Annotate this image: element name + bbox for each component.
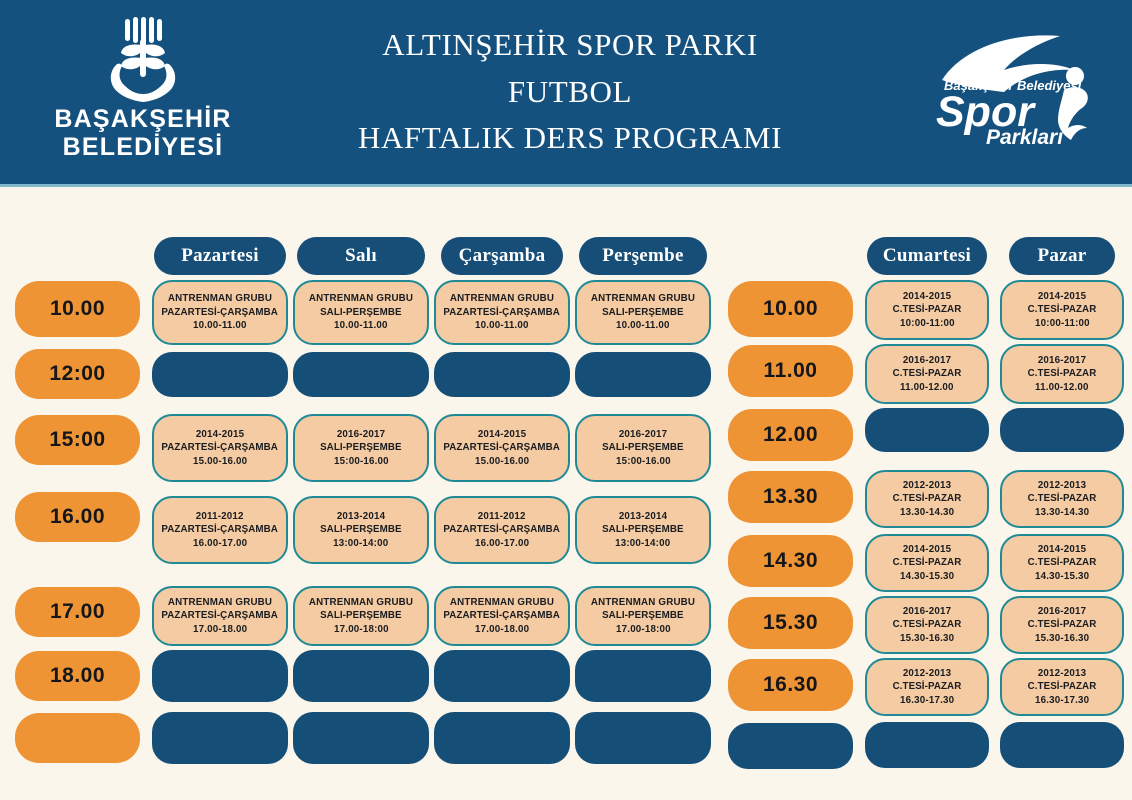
wheat-in-hands-icon	[104, 17, 182, 105]
cell-line-3: 15.30-16.30	[1035, 632, 1089, 646]
cell-line-3: 15:00-16.00	[334, 455, 389, 469]
cell-line-2: PAZARTESİ-ÇARŞAMBA	[444, 609, 561, 623]
cell-line-1: 2016-2017	[903, 354, 951, 368]
cell-line-3: 17.00-18.00	[193, 623, 247, 637]
cell-line-1: 2014-2015	[196, 428, 244, 442]
cell-line-2: PAZARTESİ-ÇARŞAMBA	[162, 523, 279, 537]
session-cell-pazar-r4[interactable]: 2012-2013C.TESİ-PAZAR13.30-14.30	[1000, 470, 1124, 528]
cell-line-3: 10:00-11:00	[1035, 317, 1090, 331]
cell-line-3: 10.00-11.00	[334, 319, 388, 333]
cell-line-2: SALI-PERŞEMBE	[602, 523, 684, 537]
session-cell-sali-r5[interactable]: ANTRENMAN GRUBUSALI-PERŞEMBE17.00-18:00	[293, 586, 429, 646]
title-line-2: FUTBOL	[290, 69, 850, 116]
day-header-cumartesi[interactable]: Cumartesi	[867, 237, 987, 275]
weekend-time-label-11-00[interactable]: 11.00	[728, 345, 853, 397]
cell-line-1: 2016-2017	[903, 605, 951, 619]
cell-line-3: 16.30-17.30	[900, 694, 954, 708]
cell-line-3: 16.00-17.00	[475, 537, 529, 551]
cell-line-2: C.TESİ-PAZAR	[1028, 618, 1097, 632]
cell-line-1: 2011-2012	[478, 510, 526, 524]
cell-line-3: 15:00-16.00	[616, 455, 671, 469]
spor-parklari-logo: Başakşehir Belediyesi Spor Parkları	[924, 28, 1114, 152]
weekend-time-empty[interactable]	[728, 723, 853, 769]
cell-line-1: 2014-2015	[903, 290, 951, 304]
cell-line-2: C.TESİ-PAZAR	[893, 618, 962, 632]
cell-line-3: 17.00-18.00	[475, 623, 529, 637]
cell-line-1: 2016-2017	[619, 428, 667, 442]
cell-line-3: 10.00-11.00	[193, 319, 247, 333]
session-cell-carsamba-r3[interactable]: 2014-2015PAZARTESİ-ÇARŞAMBA15.00-16.00	[434, 414, 570, 482]
empty-slot-pazar-r3[interactable]	[1000, 408, 1124, 452]
session-cell-carsamba-r5[interactable]: ANTRENMAN GRUBUPAZARTESİ-ÇARŞAMBA17.00-1…	[434, 586, 570, 646]
session-cell-pazar-r6[interactable]: 2016-2017C.TESİ-PAZAR15.30-16.30	[1000, 596, 1124, 654]
cell-line-2: PAZARTESİ-ÇARŞAMBA	[162, 306, 279, 320]
cell-line-1: ANTRENMAN GRUBU	[168, 292, 272, 306]
cell-line-3: 10.00-11.00	[616, 319, 670, 333]
session-cell-cumartesi-r1[interactable]: 2014-2015C.TESİ-PAZAR10:00-11:00	[865, 280, 989, 340]
session-cell-sali-r1[interactable]: ANTRENMAN GRUBUSALI-PERŞEMBE10.00-11.00	[293, 280, 429, 345]
time-label-12-00[interactable]: 12:00	[15, 349, 140, 399]
empty-slot-cumartesi-r8[interactable]	[865, 722, 989, 768]
cell-line-2: C.TESİ-PAZAR	[1028, 680, 1097, 694]
session-cell-persembe-r1[interactable]: ANTRENMAN GRUBUSALI-PERŞEMBE10.00-11.00	[575, 280, 711, 345]
cell-line-2: C.TESİ-PAZAR	[1028, 303, 1097, 317]
session-cell-pazar-r5[interactable]: 2014-2015C.TESİ-PAZAR14.30-15.30	[1000, 534, 1124, 592]
logo-left-line2: BELEDİYESİ	[54, 133, 231, 161]
cell-line-1: 2012-2013	[1038, 667, 1086, 681]
cell-line-1: 2014-2015	[1038, 543, 1086, 557]
weekend-time-label-16-30[interactable]: 16.30	[728, 659, 853, 711]
cell-line-1: 2014-2015	[1038, 290, 1086, 304]
session-cell-carsamba-r4[interactable]: 2011-2012PAZARTESİ-ÇARŞAMBA16.00-17.00	[434, 496, 570, 564]
cell-line-1: 2012-2013	[903, 667, 951, 681]
cell-line-3: 15.30-16.30	[900, 632, 954, 646]
cell-line-1: 2011-2012	[196, 510, 244, 524]
weekend-time-label-13-30[interactable]: 13.30	[728, 471, 853, 523]
cell-line-2: C.TESİ-PAZAR	[1028, 492, 1097, 506]
cell-line-2: SALI-PERŞEMBE	[602, 609, 684, 623]
session-cell-sali-r3[interactable]: 2016-2017SALI-PERŞEMBE15:00-16.00	[293, 414, 429, 482]
session-cell-pazar-r1[interactable]: 2014-2015C.TESİ-PAZAR10:00-11:00	[1000, 280, 1124, 340]
empty-slot-pazar-r8[interactable]	[1000, 722, 1124, 768]
cell-line-1: 2012-2013	[1038, 479, 1086, 493]
cell-line-1: 2013-2014	[337, 510, 385, 524]
session-cell-pazar-r2[interactable]: 2016-2017C.TESİ-PAZAR11.00-12.00	[1000, 344, 1124, 404]
cell-line-2: PAZARTESİ-ÇARŞAMBA	[162, 609, 279, 623]
day-header-sali[interactable]: Salı	[297, 237, 425, 275]
empty-slot-pazartesi-r2[interactable]	[152, 352, 288, 397]
cell-line-2: C.TESİ-PAZAR	[893, 556, 962, 570]
cell-line-2: PAZARTESİ-ÇARŞAMBA	[444, 523, 561, 537]
cell-line-1: 2013-2014	[619, 510, 667, 524]
empty-slot-persembe-r7[interactable]	[575, 712, 711, 764]
athlete-swoosh-icon: Başakşehir Belediyesi Spor Parkları	[924, 28, 1114, 152]
cell-line-3: 17.00-18:00	[616, 623, 671, 637]
cell-line-3: 11.00-12.00	[1035, 381, 1089, 395]
empty-slot-sali-r7[interactable]	[293, 712, 429, 764]
session-cell-pazartesi-r4[interactable]: 2011-2012PAZARTESİ-ÇARŞAMBA16.00-17.00	[152, 496, 288, 564]
page-title: ALTINŞEHİR SPOR PARKI FUTBOL HAFTALIK DE…	[290, 22, 850, 162]
cell-line-2: C.TESİ-PAZAR	[1028, 556, 1097, 570]
cell-line-2: SALI-PERŞEMBE	[320, 441, 402, 455]
cell-line-3: 13:00-14:00	[333, 537, 388, 551]
session-cell-cumartesi-r2[interactable]: 2016-2017C.TESİ-PAZAR11.00-12.00	[865, 344, 989, 404]
cell-line-3: 10:00-11:00	[900, 317, 955, 331]
empty-slot-carsamba-r2[interactable]	[434, 352, 570, 397]
day-header-pazar[interactable]: Pazar	[1009, 237, 1115, 275]
cell-line-3: 10.00-11.00	[475, 319, 529, 333]
cell-line-3: 16.00-17.00	[193, 537, 247, 551]
right-logo-line3: Parkları	[986, 126, 1063, 149]
session-cell-persembe-r3[interactable]: 2016-2017SALI-PERŞEMBE15:00-16.00	[575, 414, 711, 482]
cell-line-2: C.TESİ-PAZAR	[893, 303, 962, 317]
cell-line-1: 2014-2015	[903, 543, 951, 557]
session-cell-pazartesi-r1[interactable]: ANTRENMAN GRUBUPAZARTESİ-ÇARŞAMBA10.00-1…	[152, 280, 288, 345]
cell-line-3: 15.00-16.00	[193, 455, 247, 469]
cell-line-3: 11.00-12.00	[900, 381, 954, 395]
weekend-time-label-10-00[interactable]: 10.00	[728, 281, 853, 337]
time-label-18-00[interactable]: 18.00	[15, 651, 140, 701]
cell-line-1: ANTRENMAN GRUBU	[309, 292, 413, 306]
time-label-10-00[interactable]: 10.00	[15, 281, 140, 337]
time-label-17-00[interactable]: 17.00	[15, 587, 140, 637]
logo-left-wordmark: BAŞAKŞEHİR BELEDİYESİ	[54, 105, 231, 161]
cell-line-1: ANTRENMAN GRUBU	[591, 596, 695, 610]
cell-line-1: ANTRENMAN GRUBU	[309, 596, 413, 610]
day-header-carsamba[interactable]: Çarşamba	[441, 237, 563, 275]
empty-slot-persembe-r2[interactable]	[575, 352, 711, 397]
cell-line-2: SALI-PERŞEMBE	[602, 441, 684, 455]
session-cell-pazar-r7[interactable]: 2012-2013C.TESİ-PAZAR16.30-17.30	[1000, 658, 1124, 716]
cell-line-2: C.TESİ-PAZAR	[1028, 367, 1097, 381]
session-cell-persembe-r5[interactable]: ANTRENMAN GRUBUSALI-PERŞEMBE17.00-18:00	[575, 586, 711, 646]
empty-slot-carsamba-r7[interactable]	[434, 712, 570, 764]
title-line-1: ALTINŞEHİR SPOR PARKI	[290, 22, 850, 69]
time-label-15-00[interactable]: 15:00	[15, 415, 140, 465]
cell-line-1: 2016-2017	[1038, 354, 1086, 368]
cell-line-2: C.TESİ-PAZAR	[893, 492, 962, 506]
day-header-persembe[interactable]: Perşembe	[579, 237, 707, 275]
page-header: BAŞAKŞEHİR BELEDİYESİ ALTINŞEHİR SPOR PA…	[0, 0, 1132, 184]
cell-line-3: 17.00-18:00	[334, 623, 389, 637]
cell-line-3: 14.30-15.30	[900, 570, 954, 584]
cell-line-3: 14.30-15.30	[1035, 570, 1089, 584]
cell-line-3: 13.30-14.30	[1035, 506, 1089, 520]
session-cell-cumartesi-r7[interactable]: 2012-2013C.TESİ-PAZAR16.30-17.30	[865, 658, 989, 716]
empty-slot-carsamba-r6[interactable]	[434, 650, 570, 702]
weekend-time-label-15-30[interactable]: 15.30	[728, 597, 853, 649]
empty-slot-sali-r2[interactable]	[293, 352, 429, 397]
schedule-board: PazartesiSalıÇarşambaPerşembe10.0012:001…	[0, 187, 1132, 800]
time-label-16-00[interactable]: 16.00	[15, 492, 140, 542]
cell-line-1: ANTRENMAN GRUBU	[450, 292, 554, 306]
day-header-pazartesi[interactable]: Pazartesi	[154, 237, 286, 275]
empty-slot-persembe-r6[interactable]	[575, 650, 711, 702]
cell-line-1: 2012-2013	[903, 479, 951, 493]
session-cell-cumartesi-r6[interactable]: 2016-2017C.TESİ-PAZAR15.30-16.30	[865, 596, 989, 654]
cell-line-3: 15.00-16.00	[475, 455, 529, 469]
cell-line-2: PAZARTESİ-ÇARŞAMBA	[444, 441, 561, 455]
cell-line-3: 13.30-14.30	[900, 506, 954, 520]
cell-line-1: ANTRENMAN GRUBU	[450, 596, 554, 610]
empty-slot-sali-r6[interactable]	[293, 650, 429, 702]
session-cell-pazartesi-r5[interactable]: ANTRENMAN GRUBUPAZARTESİ-ÇARŞAMBA17.00-1…	[152, 586, 288, 646]
cell-line-2: C.TESİ-PAZAR	[893, 367, 962, 381]
empty-slot-pazartesi-r6[interactable]	[152, 650, 288, 702]
logo-left-line1: BAŞAKŞEHİR	[54, 105, 231, 133]
time-label-empty[interactable]	[15, 713, 140, 763]
cell-line-1: 2016-2017	[1038, 605, 1086, 619]
empty-slot-pazartesi-r7[interactable]	[152, 712, 288, 764]
cell-line-1: ANTRENMAN GRUBU	[168, 596, 272, 610]
cell-line-2: PAZARTESİ-ÇARŞAMBA	[444, 306, 561, 320]
session-cell-cumartesi-r4[interactable]: 2012-2013C.TESİ-PAZAR13.30-14.30	[865, 470, 989, 528]
cell-line-2: C.TESİ-PAZAR	[893, 680, 962, 694]
session-cell-sali-r4[interactable]: 2013-2014SALI-PERŞEMBE13:00-14:00	[293, 496, 429, 564]
session-cell-pazartesi-r3[interactable]: 2014-2015PAZARTESİ-ÇARŞAMBA15.00-16.00	[152, 414, 288, 482]
cell-line-1: 2014-2015	[478, 428, 526, 442]
cell-line-3: 13:00-14:00	[615, 537, 670, 551]
session-cell-carsamba-r1[interactable]: ANTRENMAN GRUBUPAZARTESİ-ÇARŞAMBA10.00-1…	[434, 280, 570, 345]
cell-line-2: PAZARTESİ-ÇARŞAMBA	[162, 441, 279, 455]
basaksehir-belediyesi-logo: BAŞAKŞEHİR BELEDİYESİ	[18, 14, 268, 164]
weekend-time-label-12-00[interactable]: 12.00	[728, 409, 853, 461]
title-line-3: HAFTALIK DERS PROGRAMI	[290, 115, 850, 162]
cell-line-2: SALI-PERŞEMBE	[320, 523, 402, 537]
cell-line-1: ANTRENMAN GRUBU	[591, 292, 695, 306]
cell-line-2: SALI-PERŞEMBE	[320, 306, 402, 320]
cell-line-2: SALI-PERŞEMBE	[320, 609, 402, 623]
cell-line-1: 2016-2017	[337, 428, 385, 442]
session-cell-cumartesi-r5[interactable]: 2014-2015C.TESİ-PAZAR14.30-15.30	[865, 534, 989, 592]
empty-slot-cumartesi-r3[interactable]	[865, 408, 989, 452]
cell-line-3: 16.30-17.30	[1035, 694, 1089, 708]
session-cell-persembe-r4[interactable]: 2013-2014SALI-PERŞEMBE13:00-14:00	[575, 496, 711, 564]
weekend-time-label-14-30[interactable]: 14.30	[728, 535, 853, 587]
cell-line-2: SALI-PERŞEMBE	[602, 306, 684, 320]
